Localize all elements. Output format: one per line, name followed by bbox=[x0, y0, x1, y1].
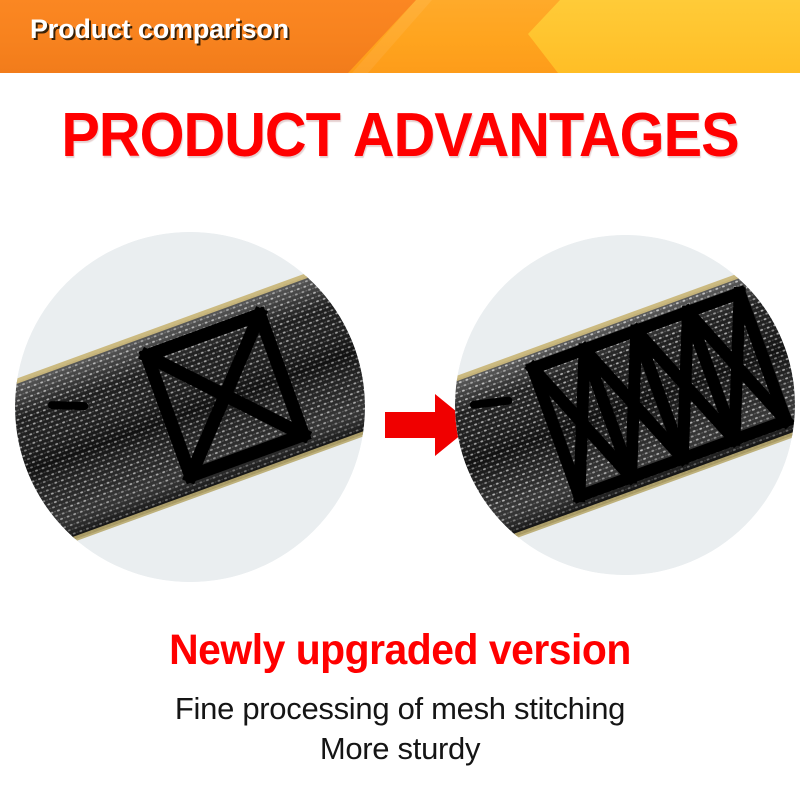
strap-before-illustration bbox=[15, 232, 365, 582]
product-photo-before bbox=[15, 232, 365, 582]
footer-text-block: Newly upgraded version Fine processing o… bbox=[0, 625, 800, 769]
strap-after-illustration bbox=[455, 235, 795, 575]
page-title: PRODUCT ADVANTAGES bbox=[28, 105, 772, 167]
header-banner: Product comparison bbox=[0, 0, 800, 73]
product-photo-after bbox=[455, 235, 795, 575]
footer-description-line-2: More sturdy bbox=[0, 729, 800, 769]
footer-description-line-1: Fine processing of mesh stitching bbox=[0, 689, 800, 729]
upgrade-headline: Newly upgraded version bbox=[20, 625, 780, 675]
banner-title: Product comparison bbox=[30, 14, 289, 45]
